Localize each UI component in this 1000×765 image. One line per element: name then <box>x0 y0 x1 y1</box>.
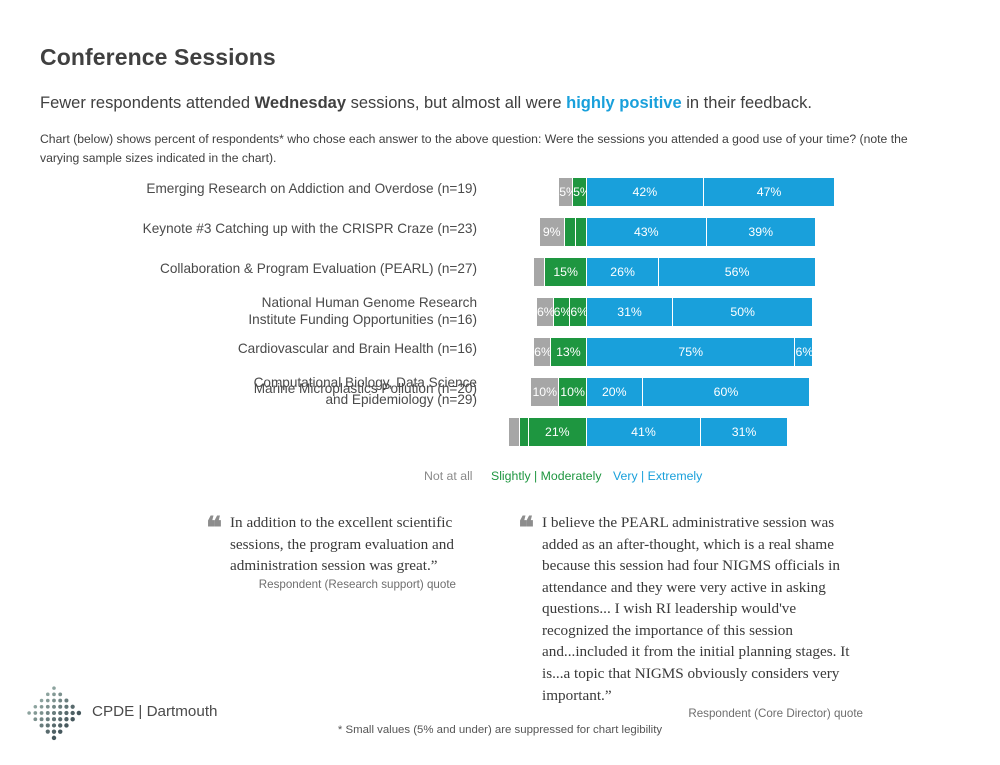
chart-row: Cardiovascular and Brain Health (n=16)6%… <box>0 338 1000 378</box>
chart-row: National Human Genome ResearchInstitute … <box>0 298 1000 338</box>
headline-part1: Fewer respondents attended <box>40 94 255 112</box>
chart-bar-segment: 13% <box>551 338 587 366</box>
chart-bar-segment: 20% <box>587 378 643 406</box>
headline-part3: in their feedback. <box>682 94 812 112</box>
chart-row-label-line: Emerging Research on Addiction and Overd… <box>57 181 477 198</box>
quote-mark-icon: ❝ <box>206 514 222 544</box>
chart-row-label: Keynote #3 Catching up with the CRISPR C… <box>57 221 477 238</box>
chart-row-label: Emerging Research on Addiction and Overd… <box>57 181 477 198</box>
chart-bar-segment: 43% <box>587 218 707 246</box>
chart-bar-segment: 26% <box>587 258 659 286</box>
chart-bar-segment <box>509 418 520 446</box>
chart-bar-segment: 6% <box>537 298 554 326</box>
chart-row-label: Cardiovascular and Brain Health (n=16) <box>57 341 477 358</box>
chart-row-label-line: National Human Genome Research <box>57 295 477 312</box>
headline-bold: Wednesday <box>255 94 346 112</box>
chart-bar-segment: 60% <box>643 378 810 406</box>
chart-bar-segment: 15% <box>545 258 587 286</box>
stacked-bar-chart: Emerging Research on Addiction and Overd… <box>0 172 1000 462</box>
chart-bar-segment <box>520 418 528 446</box>
quote-attribution: Respondent (Core Director) quote <box>518 707 863 720</box>
chart-bar-segment: 6% <box>534 338 551 366</box>
chart-bar-segment: 5% <box>559 178 573 206</box>
chart-row: Keynote #3 Catching up with the CRISPR C… <box>0 218 1000 258</box>
chart-bar: 6%13%75%6% <box>534 338 812 366</box>
chart-row-label: Computational Biology, Data Scienceand E… <box>57 375 477 409</box>
chart-row-label-line: Keynote #3 Catching up with the CRISPR C… <box>57 221 477 238</box>
chart-bar-segment <box>534 258 545 286</box>
chart-row-label: Collaboration & Program Evaluation (PEAR… <box>57 261 477 278</box>
chart-bar: 5%5%42%47% <box>559 178 834 206</box>
legend-item-slightly-moderately: Slightly | Moderately <box>491 469 602 483</box>
chart-bar: 9%43%39% <box>540 218 815 246</box>
headline-part2: sessions, but almost all were <box>346 94 566 112</box>
chart-bar-segment <box>576 218 587 246</box>
chart-bar-segment: 6% <box>554 298 571 326</box>
legend-item-not-at-all: Not at all <box>424 469 473 483</box>
chart-bar-segment: 21% <box>529 418 587 446</box>
chart-row-label-line: Cardiovascular and Brain Health (n=16) <box>57 341 477 358</box>
page-title: Conference Sessions <box>40 44 276 71</box>
quote-attribution: Respondent (Research support) quote <box>206 578 456 591</box>
headline: Fewer respondents attended Wednesday ses… <box>40 94 812 113</box>
quote-card-core-director: ❝ I believe the PEARL administrative ses… <box>518 512 863 720</box>
chart-bar-segment: 39% <box>707 218 815 246</box>
chart-bar-segment: 9% <box>540 218 565 246</box>
quote-card-research-support: ❝ In addition to the excellent scientifi… <box>206 512 456 591</box>
chart-bar-segment: 56% <box>659 258 815 286</box>
legend-item-very-extremely: Very | Extremely <box>613 469 702 483</box>
chart-bar-segment <box>565 218 576 246</box>
chart-bar-segment: 75% <box>587 338 796 366</box>
chart-bar-segment: 47% <box>704 178 835 206</box>
headline-accent: highly positive <box>566 94 682 112</box>
chart-bar-segment: 6% <box>795 338 812 366</box>
brand-label: CPDE | Dartmouth <box>92 703 217 720</box>
quote-mark-icon: ❝ <box>518 514 534 544</box>
chart-bar-segment: 42% <box>587 178 704 206</box>
chart-bar: 15%26%56% <box>534 258 815 286</box>
footnote: * Small values (5% and under) are suppre… <box>0 724 1000 736</box>
quote-text: I believe the PEARL administrative sessi… <box>542 512 863 706</box>
chart-description: Chart (below) shows percent of responden… <box>40 130 945 168</box>
chart-bar-segment: 6% <box>570 298 587 326</box>
chart-bar-segment: 31% <box>587 298 673 326</box>
chart-bar-segment: 31% <box>701 418 787 446</box>
quote-text: In addition to the excellent scientific … <box>230 512 456 577</box>
chart-row-label-line: and Epidemiology (n=29) <box>57 392 477 409</box>
chart-bar: 6%6%6%31%50% <box>537 298 812 326</box>
chart-bar: 10%10%20%60% <box>531 378 809 406</box>
chart-bar-segment: 10% <box>531 378 559 406</box>
chart-row: Computational Biology, Data Scienceand E… <box>0 418 1000 458</box>
chart-bar-segment: 50% <box>673 298 812 326</box>
chart-bar-segment: 5% <box>573 178 587 206</box>
chart-bar-segment: 41% <box>587 418 701 446</box>
chart-row: Collaboration & Program Evaluation (PEAR… <box>0 258 1000 298</box>
chart-bar: 21%41%31% <box>509 418 787 446</box>
chart-row-label: National Human Genome ResearchInstitute … <box>57 295 477 329</box>
chart-row-label-line: Institute Funding Opportunities (n=16) <box>57 312 477 329</box>
chart-bar-segment: 10% <box>559 378 587 406</box>
chart-row-label-line: Computational Biology, Data Science <box>57 375 477 392</box>
chart-row-label-line: Collaboration & Program Evaluation (PEAR… <box>57 261 477 278</box>
chart-row: Emerging Research on Addiction and Overd… <box>0 178 1000 218</box>
